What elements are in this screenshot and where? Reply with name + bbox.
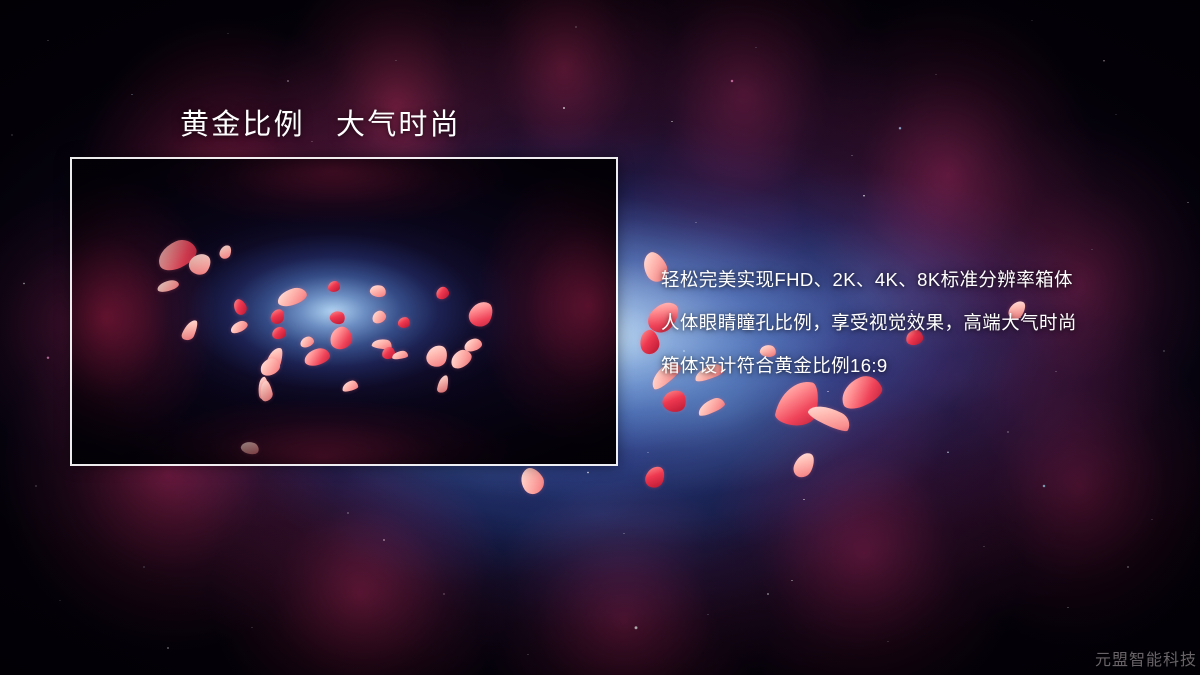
body-text-block: 轻松完美实现FHD、2K、4K、8K标准分辨率箱体 人体眼睛瞳孔比例，享受视觉效…: [661, 258, 1200, 387]
body-line: 箱体设计符合黄金比例16:9: [661, 344, 1200, 387]
presentation-slide: 黄金比例 大气时尚 轻松完美实现FHD、2K、4K、8K标准分辨率箱体 人体眼睛…: [0, 0, 1200, 675]
watermark-text: 元盟智能科技: [1095, 646, 1197, 670]
panel-vignette: [72, 159, 616, 464]
body-line: 轻松完美实现FHD、2K、4K、8K标准分辨率箱体: [661, 258, 1200, 301]
body-line: 人体眼睛瞳孔比例，享受视觉效果，高端大气时尚: [661, 301, 1200, 344]
nebula-preview-image: [72, 159, 616, 464]
page-title: 黄金比例 大气时尚: [180, 101, 461, 143]
framed-preview-panel: [70, 157, 618, 466]
